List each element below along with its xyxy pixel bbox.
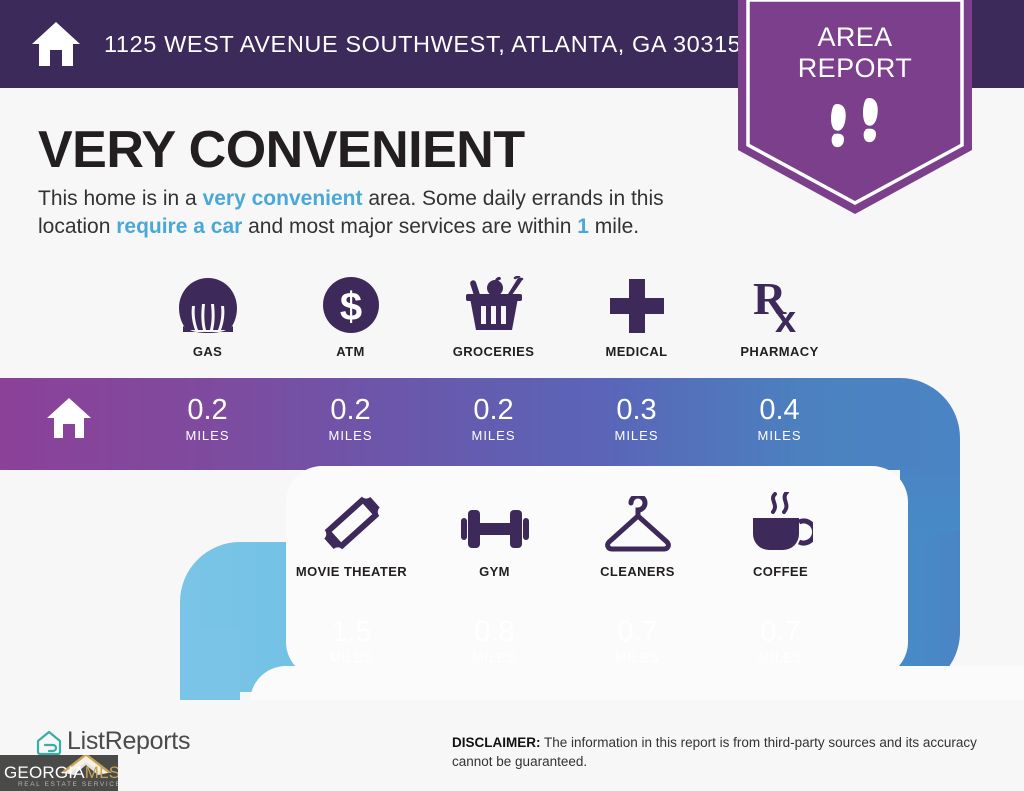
coffee-icon xyxy=(749,492,813,554)
category-label: MEDICAL xyxy=(605,344,667,359)
summary-highlight-2: require a car xyxy=(116,215,242,238)
category-row-primary: GAS $ ATM GROCERIES xyxy=(136,272,942,359)
svg-text:x: x xyxy=(775,299,796,334)
area-report-badge: AREA REPORT xyxy=(738,0,972,214)
summary-part4: mile. xyxy=(589,215,639,238)
svg-text:$: $ xyxy=(339,285,361,329)
dollar-circle-icon: $ xyxy=(322,276,380,334)
listreports-house-icon xyxy=(36,729,62,755)
category-label: PHARMACY xyxy=(740,344,818,359)
rx-icon: R x xyxy=(751,274,809,334)
icon-art xyxy=(321,492,383,554)
footprints-icon xyxy=(827,98,883,156)
icon-art: $ xyxy=(322,272,380,334)
category-pharmacy: R x PHARMACY xyxy=(708,272,851,359)
mls-wordmark-georgia: GEORGIA xyxy=(4,763,85,782)
shell-icon xyxy=(177,276,239,334)
home-marker-icon xyxy=(46,396,92,440)
icon-art xyxy=(177,272,239,334)
category-label: GAS xyxy=(193,344,222,359)
category-gym: GYM xyxy=(423,492,566,579)
hanger-icon xyxy=(605,496,671,554)
icon-art xyxy=(609,272,665,334)
category-movie-theater: MOVIE THEATER xyxy=(280,492,423,579)
property-address: 1125 WEST AVENUE SOUTHWEST, ATLANTA, GA … xyxy=(104,31,741,58)
disclaimer-label: DISCLAIMER: xyxy=(452,735,541,750)
icon-art xyxy=(749,492,813,554)
category-row-secondary: MOVIE THEATER GYM CLEANERS xyxy=(280,492,926,579)
listreports-wordmark: ListReports xyxy=(67,727,190,756)
category-cleaners: CLEANERS xyxy=(566,492,709,579)
category-label: GYM xyxy=(479,564,510,579)
mls-wordmark-mls: MLS xyxy=(85,763,118,782)
mls-wordmark: GEORGIAMLS xyxy=(4,763,118,783)
page-title: VERY CONVENIENT xyxy=(38,119,525,181)
category-groceries: GROCERIES xyxy=(422,272,565,359)
category-atm: $ ATM xyxy=(279,272,422,359)
summary-highlight-1: very convenient xyxy=(203,187,363,210)
category-label: MOVIE THEATER xyxy=(296,564,407,579)
summary-part3: and most major services are within xyxy=(242,215,577,238)
category-gas: GAS xyxy=(136,272,279,359)
badge-title-line1: AREA xyxy=(738,22,972,53)
icon-art: R x xyxy=(751,272,809,334)
category-label: CLEANERS xyxy=(600,564,675,579)
summary-text: This home is in a very convenient area. … xyxy=(38,185,738,241)
category-label: ATM xyxy=(336,344,364,359)
icon-art xyxy=(461,492,529,554)
dumbbell-icon xyxy=(461,504,529,554)
cross-icon xyxy=(609,278,665,334)
category-medical: MEDICAL xyxy=(565,272,708,359)
disclaimer: DISCLAIMER: The information in this repo… xyxy=(452,733,997,771)
mls-tagline: REAL ESTATE SERVICES xyxy=(18,781,118,788)
georgia-mls-logo: GEORGIAMLS REAL ESTATE SERVICES xyxy=(0,755,118,791)
basket-icon xyxy=(462,276,526,334)
summary-part1: This home is in a xyxy=(38,187,203,210)
ticket-icon xyxy=(321,492,383,554)
badge-title: AREA REPORT xyxy=(738,22,972,84)
summary-highlight-3: 1 xyxy=(577,215,589,238)
category-label: COFFEE xyxy=(753,564,808,579)
category-coffee: COFFEE xyxy=(709,492,852,579)
badge-title-line2: REPORT xyxy=(738,53,972,84)
home-icon xyxy=(30,20,82,68)
icon-art xyxy=(462,272,526,334)
icon-art xyxy=(605,492,671,554)
listreports-logo: ListReports xyxy=(36,727,190,756)
category-label: GROCERIES xyxy=(453,344,535,359)
